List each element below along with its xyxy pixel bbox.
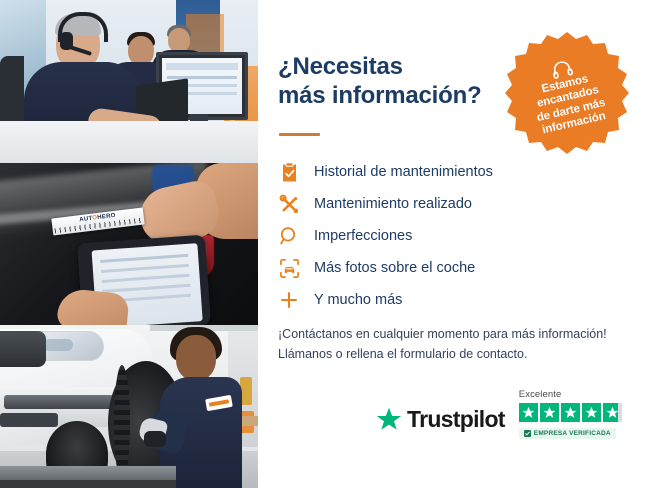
list-item-label: Más fotos sobre el coche bbox=[314, 260, 475, 276]
contact-copy: ¡Contáctanos en cualquier momento para m… bbox=[278, 324, 638, 365]
star-partial bbox=[603, 403, 622, 422]
contact-copy-line-2: Llámanos o rellena el formulario de cont… bbox=[278, 344, 638, 364]
trustpilot-rating[interactable]: Trustpilot Excelente bbox=[376, 389, 622, 439]
list-item: Mantenimiento realizado bbox=[278, 188, 618, 220]
list-item-label: Mantenimiento realizado bbox=[314, 196, 472, 212]
bumper-vent bbox=[4, 395, 114, 409]
car-inspection-ruler-photo: AUTOHERO bbox=[0, 163, 258, 325]
trustpilot-star-icon bbox=[376, 407, 402, 432]
verified-label: EMPRESA VERIFICADA bbox=[534, 430, 611, 437]
trustpilot-wordmark: Trustpilot bbox=[407, 406, 505, 433]
trustpilot-stars bbox=[519, 403, 622, 422]
star-filled bbox=[540, 403, 559, 422]
support-badge: Estamos encantados de darte más informac… bbox=[504, 30, 630, 156]
list-item: Más fotos sobre el coche bbox=[278, 252, 618, 284]
verified-check-icon bbox=[524, 430, 531, 437]
star-filled bbox=[582, 403, 601, 422]
wrench-screwdriver-icon bbox=[278, 193, 300, 215]
mechanic-head bbox=[176, 335, 216, 381]
photo-column: AUTOHERO bbox=[0, 0, 258, 488]
tire-tread bbox=[114, 365, 130, 481]
clipboard-check-icon bbox=[278, 161, 300, 183]
status-badge: EMPRESA VERIFICADA bbox=[519, 428, 616, 439]
list-item-label: Imperfecciones bbox=[314, 228, 412, 244]
bumper-vent-lower bbox=[0, 413, 58, 427]
car-photo-frame-icon bbox=[278, 257, 300, 279]
star-filled bbox=[519, 403, 538, 422]
list-item-label: Historial de mantenimientos bbox=[314, 164, 493, 180]
plus-icon bbox=[278, 289, 300, 311]
title-divider bbox=[279, 133, 320, 136]
list-item-label: Y mucho más bbox=[314, 292, 402, 308]
car-grille bbox=[0, 331, 46, 367]
page-title-line-2: más información? bbox=[278, 81, 508, 110]
car-lift-base bbox=[0, 480, 176, 488]
contact-copy-line-1: ¡Contáctanos en cualquier momento para m… bbox=[278, 324, 638, 344]
info-banner: AUTOHERO bbox=[0, 0, 650, 488]
page-title: ¿Necesitas más información? bbox=[278, 52, 508, 111]
star-filled bbox=[561, 403, 580, 422]
trustpilot-rating-label: Excelente bbox=[519, 389, 622, 400]
feature-list: Historial de mantenimientos Mantenimient… bbox=[278, 156, 618, 316]
mechanic-tire-inspection-photo bbox=[0, 325, 258, 488]
list-item: Imperfecciones bbox=[278, 220, 618, 252]
call-centre-agents-photo bbox=[0, 0, 258, 163]
front-desk bbox=[0, 121, 258, 163]
trustpilot-logo[interactable]: Trustpilot bbox=[376, 395, 505, 433]
trustpilot-score-block: Excelente bbox=[519, 389, 622, 439]
content-panel: ¿Necesitas más información? Estamos enca… bbox=[258, 0, 650, 488]
page-title-line-1: ¿Necesitas bbox=[278, 52, 508, 81]
magnifier-icon bbox=[278, 225, 300, 247]
badge-text: Estamos encantados de darte más informac… bbox=[530, 70, 610, 138]
mechanic-glove-cuff bbox=[144, 431, 166, 447]
list-item: Historial de mantenimientos bbox=[278, 156, 618, 188]
list-item: Y mucho más bbox=[278, 284, 618, 316]
